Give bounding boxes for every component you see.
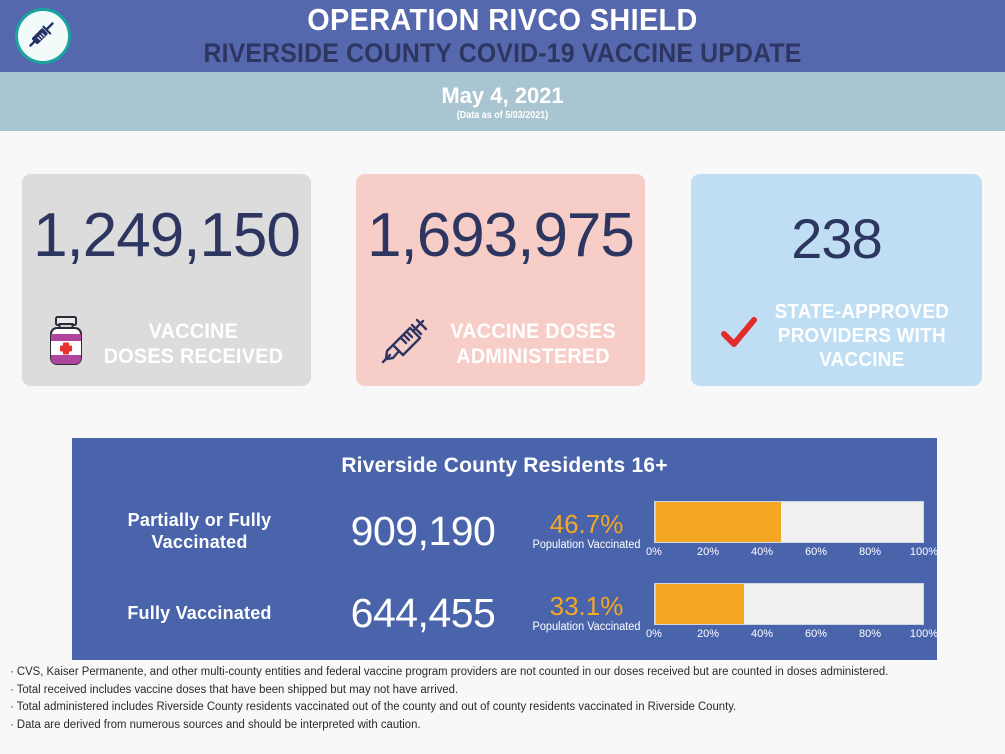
stat-value-doses-received: 1,249,150 xyxy=(22,174,311,269)
stat-label-doses-received: VACCINE DOSES RECEIVED xyxy=(104,319,283,369)
row-percent-block: 33.1% Population Vaccinated xyxy=(519,592,654,635)
stat-label-approved-providers: STATE-APPROVED PROVIDERS WITH VACCINE xyxy=(774,300,949,372)
data-as-of-note: (Data as of 5/03/2021) xyxy=(50,109,955,122)
row-percent-caption: Population Vaccinated xyxy=(522,538,650,553)
row-percent-value: 33.1% xyxy=(519,592,654,620)
bar-track xyxy=(654,583,924,625)
stat-card-footer: VACCINE DOSES ADMINISTERED xyxy=(356,315,645,372)
vaccine-vial-icon xyxy=(44,315,88,372)
axis-tick-label: 0% xyxy=(646,545,662,559)
footnote-item: · CVS, Kaiser Permanente, and other mult… xyxy=(10,664,975,682)
axis-tick-label: 40% xyxy=(751,545,773,559)
bar-axis: 0%20%40%60%80%100% xyxy=(654,627,924,643)
page-subtitle: RIVERSIDE COUNTY COVID-19 VACCINE UPDATE xyxy=(40,38,965,69)
stat-card-footer: VACCINE DOSES RECEIVED xyxy=(22,315,311,372)
stat-card-doses-received: 1,249,150 xyxy=(22,174,311,386)
row-percent-block: 46.7% Population Vaccinated xyxy=(519,510,654,553)
row-percent-caption: Population Vaccinated xyxy=(522,620,650,635)
stat-card-doses-administered: 1,693,975 xyxy=(356,174,645,386)
row-label: Fully Vaccinated xyxy=(72,602,327,624)
axis-tick-label: 80% xyxy=(859,627,881,641)
bar-axis: 0%20%40%60%80%100% xyxy=(654,545,924,561)
bar-fill xyxy=(656,502,781,542)
footnote-item: · Total received includes vaccine doses … xyxy=(10,682,975,700)
axis-tick-label: 20% xyxy=(697,545,719,559)
residents-panel-title: Riverside County Residents 16+ xyxy=(72,438,937,478)
bar-fill xyxy=(656,584,744,624)
bar-track xyxy=(654,501,924,543)
row-bar-chart: 0%20%40%60%80%100% xyxy=(654,501,924,561)
stat-label-doses-administered: VACCINE DOSES ADMINISTERED xyxy=(451,319,617,369)
syringe-icon xyxy=(379,315,435,372)
row-percent-value: 46.7% xyxy=(519,510,654,538)
stat-cards: 1,249,150 xyxy=(22,174,982,386)
axis-tick-label: 60% xyxy=(805,627,827,641)
date-band: May 4, 2021 (Data as of 5/03/2021) xyxy=(0,72,1005,131)
axis-tick-label: 40% xyxy=(751,627,773,641)
row-count: 909,190 xyxy=(327,508,519,554)
residents-panel: Riverside County Residents 16+ Partially… xyxy=(72,438,937,660)
page-title: OPERATION RIVCO SHIELD xyxy=(35,2,970,38)
stat-value-doses-administered: 1,693,975 xyxy=(356,174,645,269)
page-header: OPERATION RIVCO SHIELD RIVERSIDE COUNTY … xyxy=(0,0,1005,72)
stat-card-footer: STATE-APPROVED PROVIDERS WITH VACCINE xyxy=(691,300,982,372)
axis-tick-label: 20% xyxy=(697,627,719,641)
red-checkmark-icon xyxy=(719,314,759,359)
stat-card-approved-providers: 238 STATE-APPROVED PROVIDERS WITH VACCIN… xyxy=(691,174,982,386)
axis-tick-label: 80% xyxy=(859,545,881,559)
report-date: May 4, 2021 xyxy=(0,72,1005,109)
axis-tick-label: 0% xyxy=(646,627,662,641)
axis-tick-label: 60% xyxy=(805,545,827,559)
residents-row-partially-or-fully: Partially or Fully Vaccinated 909,190 46… xyxy=(72,490,937,572)
stat-value-approved-providers: 238 xyxy=(691,174,982,272)
axis-tick-label: 100% xyxy=(910,545,938,559)
residents-row-fully-vaccinated: Fully Vaccinated 644,455 33.1% Populatio… xyxy=(72,572,937,654)
row-bar-chart: 0%20%40%60%80%100% xyxy=(654,583,924,643)
body-area: 1,249,150 xyxy=(0,131,1005,754)
residents-panel-rows: Partially or Fully Vaccinated 909,190 46… xyxy=(72,490,937,654)
footnote-item: · Total administered includes Riverside … xyxy=(10,699,975,717)
footnotes: · CVS, Kaiser Permanente, and other mult… xyxy=(10,664,990,734)
axis-tick-label: 100% xyxy=(910,627,938,641)
row-count: 644,455 xyxy=(327,590,519,636)
header-title-block: OPERATION RIVCO SHIELD RIVERSIDE COUNTY … xyxy=(0,0,1005,69)
row-label: Partially or Fully Vaccinated xyxy=(72,509,327,553)
footnote-item: · Data are derived from numerous sources… xyxy=(10,717,975,735)
